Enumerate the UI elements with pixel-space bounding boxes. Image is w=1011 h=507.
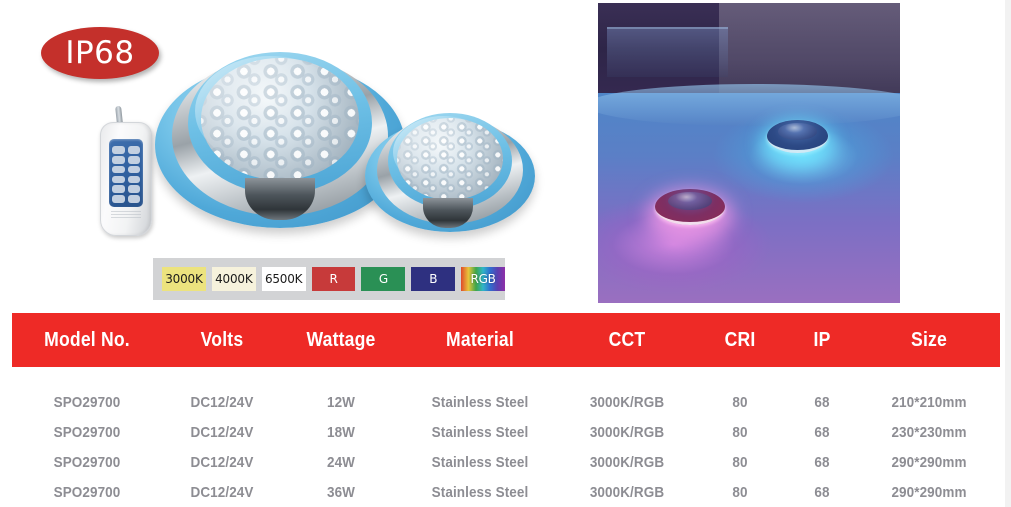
cell-volts: DC12/24V	[168, 484, 276, 501]
swatch-label: B	[429, 272, 437, 286]
swatch-label: 6500K	[265, 272, 302, 286]
cell-material: Stainless Steel	[408, 394, 552, 411]
cell-model: SPO29700	[20, 394, 155, 411]
column-header-cri: CRI	[700, 329, 781, 352]
cell-volts: DC12/24V	[168, 454, 276, 471]
swatch-label: RGB	[470, 272, 495, 286]
swatch-6500k[interactable]: 6500K	[262, 267, 306, 291]
cell-volts: DC12/24V	[168, 424, 276, 441]
swatch-label: R	[329, 272, 337, 286]
column-header-material: Material	[410, 329, 551, 352]
cell-ip: 68	[790, 424, 855, 441]
specification-table: Model No. Volts Wattage Material CCT CRI…	[12, 313, 1000, 507]
cell-material: Stainless Steel	[408, 484, 552, 501]
cell-volts: DC12/24V	[168, 394, 276, 411]
page-right-edge-strip	[1005, 0, 1011, 507]
cell-cct: 3000K/RGB	[567, 484, 688, 501]
table-row: SPO29700 DC12/24V 18W Stainless Steel 30…	[12, 417, 1000, 447]
cell-size: 290*290mm	[865, 484, 993, 501]
table-header-gap	[12, 367, 1000, 387]
cell-model: SPO29700	[20, 424, 155, 441]
product-photo	[90, 50, 550, 260]
led-array-secondary	[397, 118, 503, 200]
led-lens	[201, 58, 359, 180]
column-header-ip: IP	[790, 329, 853, 352]
led-array-secondary	[201, 58, 359, 180]
remote-keys	[112, 146, 140, 203]
table-row: SPO29700 DC12/24V 24W Stainless Steel 30…	[12, 447, 1000, 477]
swatch-3000k[interactable]: 3000K	[162, 267, 206, 291]
swatch-label: 4000K	[215, 272, 252, 286]
table-row: SPO29700 DC12/24V 12W Stainless Steel 30…	[12, 387, 1000, 417]
cell-model: SPO29700	[20, 454, 155, 471]
cell-ip: 68	[790, 394, 855, 411]
pool-scene-photo	[598, 3, 900, 303]
cell-cct: 3000K/RGB	[567, 394, 688, 411]
remote-brand-text	[111, 211, 141, 219]
swatch-label: 3000K	[165, 272, 202, 286]
cell-wattage: 12W	[288, 394, 394, 411]
column-header-cct: CCT	[568, 329, 686, 352]
light-dome	[778, 123, 817, 140]
cell-cri: 80	[699, 394, 782, 411]
cell-cct: 3000K/RGB	[567, 454, 688, 471]
swatch-green[interactable]: G	[361, 267, 405, 291]
cell-size: 290*290mm	[865, 454, 993, 471]
cell-size: 230*230mm	[865, 424, 993, 441]
light-dome	[668, 192, 712, 210]
cell-cri: 80	[699, 454, 782, 471]
color-option-panel: 3000K 4000K 6500K R G B RGB	[153, 258, 505, 300]
small-pool-light	[365, 112, 535, 242]
cell-ip: 68	[790, 484, 855, 501]
pool-edge	[598, 84, 900, 126]
table-header-row: Model No. Volts Wattage Material CCT CRI…	[12, 313, 1000, 367]
cell-cri: 80	[699, 484, 782, 501]
remote-control	[100, 118, 150, 233]
led-lens	[397, 118, 503, 200]
swatch-4000k[interactable]: 4000K	[212, 267, 256, 291]
column-header-volts: Volts	[169, 329, 275, 352]
swatch-rgb[interactable]: RGB	[461, 267, 505, 291]
magenta-floating-light	[655, 189, 724, 225]
cell-material: Stainless Steel	[408, 454, 552, 471]
remote-keypad	[109, 139, 143, 207]
cell-wattage: 24W	[288, 454, 394, 471]
cell-wattage: 36W	[288, 484, 394, 501]
swatch-red[interactable]: R	[312, 267, 356, 291]
swatch-label: G	[379, 272, 388, 286]
cell-ip: 68	[790, 454, 855, 471]
remote-body	[100, 122, 152, 236]
table-row: SPO29700 DC12/24V 36W Stainless Steel 30…	[12, 477, 1000, 507]
cell-cri: 80	[699, 424, 782, 441]
cell-material: Stainless Steel	[408, 424, 552, 441]
cell-size: 210*210mm	[865, 394, 993, 411]
cell-cct: 3000K/RGB	[567, 424, 688, 441]
column-header-size: Size	[867, 329, 992, 352]
column-header-wattage: Wattage	[289, 329, 393, 352]
pergola	[607, 27, 728, 77]
swatch-blue[interactable]: B	[411, 267, 455, 291]
cyan-floating-light	[767, 120, 827, 153]
cell-wattage: 18W	[288, 424, 394, 441]
column-header-model: Model No.	[21, 329, 153, 352]
product-spec-sheet: IP68	[0, 0, 1011, 507]
cell-model: SPO29700	[20, 484, 155, 501]
